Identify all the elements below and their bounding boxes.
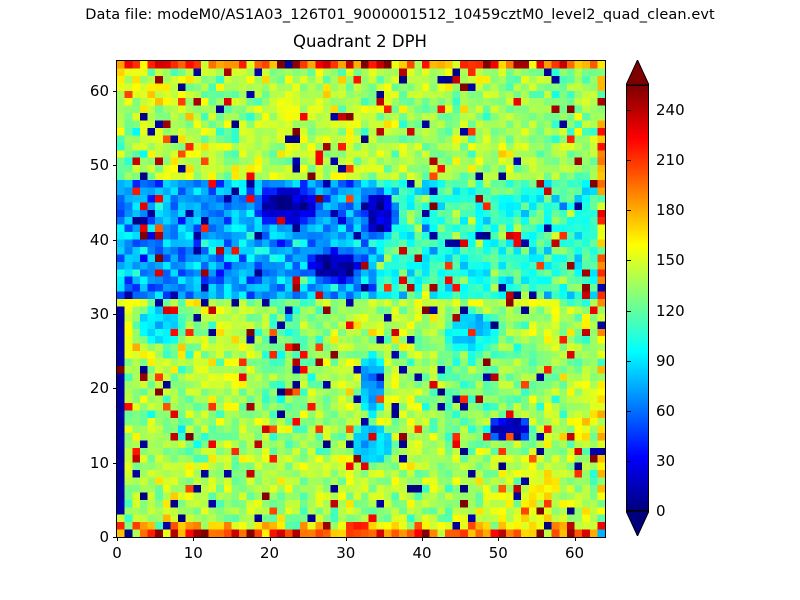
x-tick-label: 60 [565, 544, 584, 562]
y-tick-label: 30 [90, 305, 109, 323]
y-tick-label: 20 [90, 379, 109, 397]
plot-title: Quadrant 2 DPH [116, 32, 604, 52]
x-tick-mark [422, 537, 423, 541]
y-tick-mark [113, 91, 117, 92]
x-tick-label: 20 [260, 544, 279, 562]
figure-suptitle: Data file: modeM0/AS1A03_126T01_90000015… [0, 6, 800, 24]
y-tick-label: 50 [90, 156, 109, 174]
colorbar-tick [626, 511, 631, 512]
colorbar-tick-label: 120 [656, 302, 685, 320]
x-tick-label: 50 [489, 544, 508, 562]
colorbar-tick-label: 60 [656, 402, 675, 420]
colorbar-gradient [626, 85, 649, 511]
x-tick-mark [346, 537, 347, 541]
heatmap-image[interactable] [117, 61, 605, 537]
x-tick-mark [117, 537, 118, 541]
x-tick-label: 10 [184, 544, 203, 562]
y-tick-label: 0 [99, 528, 109, 546]
x-tick-mark [193, 537, 194, 541]
colorbar-over-arrow-icon [626, 60, 649, 85]
y-tick-mark [113, 240, 117, 241]
x-tick-mark [498, 537, 499, 541]
colorbar-tick-label: 240 [656, 101, 685, 119]
colorbar-tick [626, 361, 631, 362]
colorbar-tick [626, 311, 631, 312]
figure-canvas: Data file: modeM0/AS1A03_126T01_90000015… [0, 0, 800, 600]
y-tick-mark [113, 388, 117, 389]
colorbar-tick [626, 411, 631, 412]
heatmap-axes[interactable]: 0102030405060 0102030405060 [116, 60, 606, 538]
colorbar-tick [626, 461, 631, 462]
colorbar-tick [626, 110, 631, 111]
y-tick-label: 10 [90, 454, 109, 472]
colorbar-tick-label: 0 [656, 502, 666, 520]
x-tick-mark [270, 537, 271, 541]
y-tick-label: 40 [90, 231, 109, 249]
x-tick-label: 40 [412, 544, 431, 562]
colorbar-tick [626, 210, 631, 211]
y-tick-mark [113, 165, 117, 166]
colorbar-tick-label: 30 [656, 452, 675, 470]
y-tick-mark [113, 314, 117, 315]
colorbar-tick-label: 90 [656, 352, 675, 370]
y-tick-label: 60 [90, 82, 109, 100]
x-tick-mark [575, 537, 576, 541]
y-tick-mark [113, 463, 117, 464]
x-tick-label: 0 [112, 544, 122, 562]
colorbar-tick-label: 210 [656, 151, 685, 169]
colorbar-tick [626, 160, 631, 161]
colorbar-tick-label: 180 [656, 201, 685, 219]
colorbar[interactable]: 0306090120150180210240 [626, 60, 649, 536]
colorbar-tick [626, 260, 631, 261]
x-tick-label: 30 [336, 544, 355, 562]
colorbar-tick-label: 150 [656, 251, 685, 269]
colorbar-under-arrow-icon [626, 511, 649, 536]
